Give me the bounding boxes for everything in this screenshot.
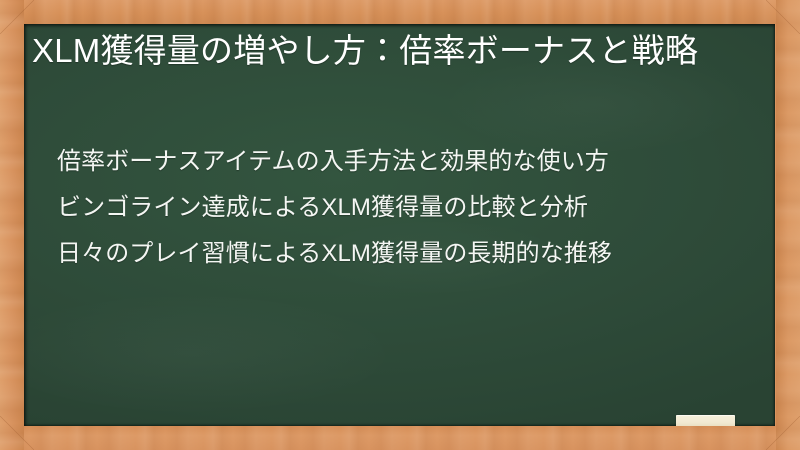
frame-rail-top (0, 0, 800, 24)
frame-rail-bottom (0, 426, 800, 450)
slide-title: XLM獲得量の増やし方：倍率ボーナスと戦略 (32, 28, 744, 75)
list-item: ビンゴライン達成によるXLM獲得量の比較と分析 (32, 190, 748, 225)
list-item: 日々のプレイ習慣によるXLM獲得量の長期的な推移 (32, 236, 748, 271)
chalkboard-slide: XLM獲得量の増やし方：倍率ボーナスと戦略 倍率ボーナスアイテムの入手方法と効果… (0, 0, 800, 450)
slide-bullet-list: 倍率ボーナスアイテムの入手方法と効果的な使い方 ビンゴライン達成によるXLM獲得… (32, 144, 748, 271)
chalk-eraser-icon (676, 415, 735, 426)
list-item: 倍率ボーナスアイテムの入手方法と効果的な使い方 (32, 144, 748, 179)
frame-stile-right (776, 0, 800, 450)
chalkboard-surface: XLM獲得量の増やし方：倍率ボーナスと戦略 倍率ボーナスアイテムの入手方法と効果… (24, 24, 775, 426)
frame-stile-left (0, 0, 24, 450)
